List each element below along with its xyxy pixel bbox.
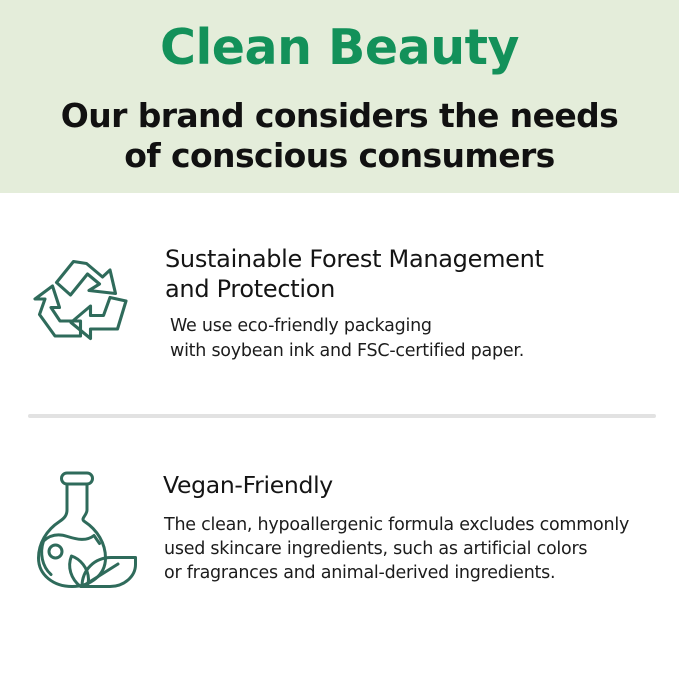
feature-text-line-1: The clean, hypoallergenic formula exclud…: [164, 513, 629, 537]
header-band: Clean Beauty Our brand considers the nee…: [0, 0, 679, 193]
feature-text-sustainable-forest: We use eco-friendly packaging with soybe…: [165, 304, 544, 363]
feature-text-line-1: We use eco-friendly packaging: [170, 314, 544, 338]
feature-text-line-2: with soybean ink and FSC-certified paper…: [170, 339, 544, 363]
feature-heading-line-1: Sustainable Forest Management: [165, 244, 544, 274]
feature-body-vegan-friendly: Vegan-Friendly The clean, hypoallergenic…: [146, 465, 629, 586]
page-title: Clean Beauty: [0, 22, 679, 73]
feature-heading-sustainable-forest: Sustainable Forest Management and Protec…: [165, 244, 544, 304]
feature-heading-line-1: Vegan-Friendly: [163, 471, 629, 501]
feature-heading-line-2: and Protection: [165, 274, 544, 304]
page-subtitle: Our brand considers the needs of conscio…: [0, 96, 679, 177]
feature-item-sustainable-forest: Sustainable Forest Management and Protec…: [28, 240, 544, 368]
recycle-icon: [28, 240, 146, 368]
flask-leaf-icon: [28, 465, 146, 593]
page-subtitle-line-2: of conscious consumers: [0, 136, 679, 176]
page-subtitle-line-1: Our brand considers the needs: [0, 96, 679, 136]
feature-heading-vegan-friendly: Vegan-Friendly: [163, 471, 629, 501]
feature-text-line-2: used skincare ingredients, such as artif…: [164, 537, 629, 561]
section-divider: [28, 414, 656, 418]
feature-body-sustainable-forest: Sustainable Forest Management and Protec…: [146, 240, 544, 363]
feature-item-vegan-friendly: Vegan-Friendly The clean, hypoallergenic…: [28, 465, 629, 593]
feature-text-vegan-friendly: The clean, hypoallergenic formula exclud…: [163, 501, 629, 586]
clean-beauty-infographic: Clean Beauty Our brand considers the nee…: [0, 0, 679, 679]
feature-text-line-3: or fragrances and animal-derived ingredi…: [164, 561, 629, 585]
